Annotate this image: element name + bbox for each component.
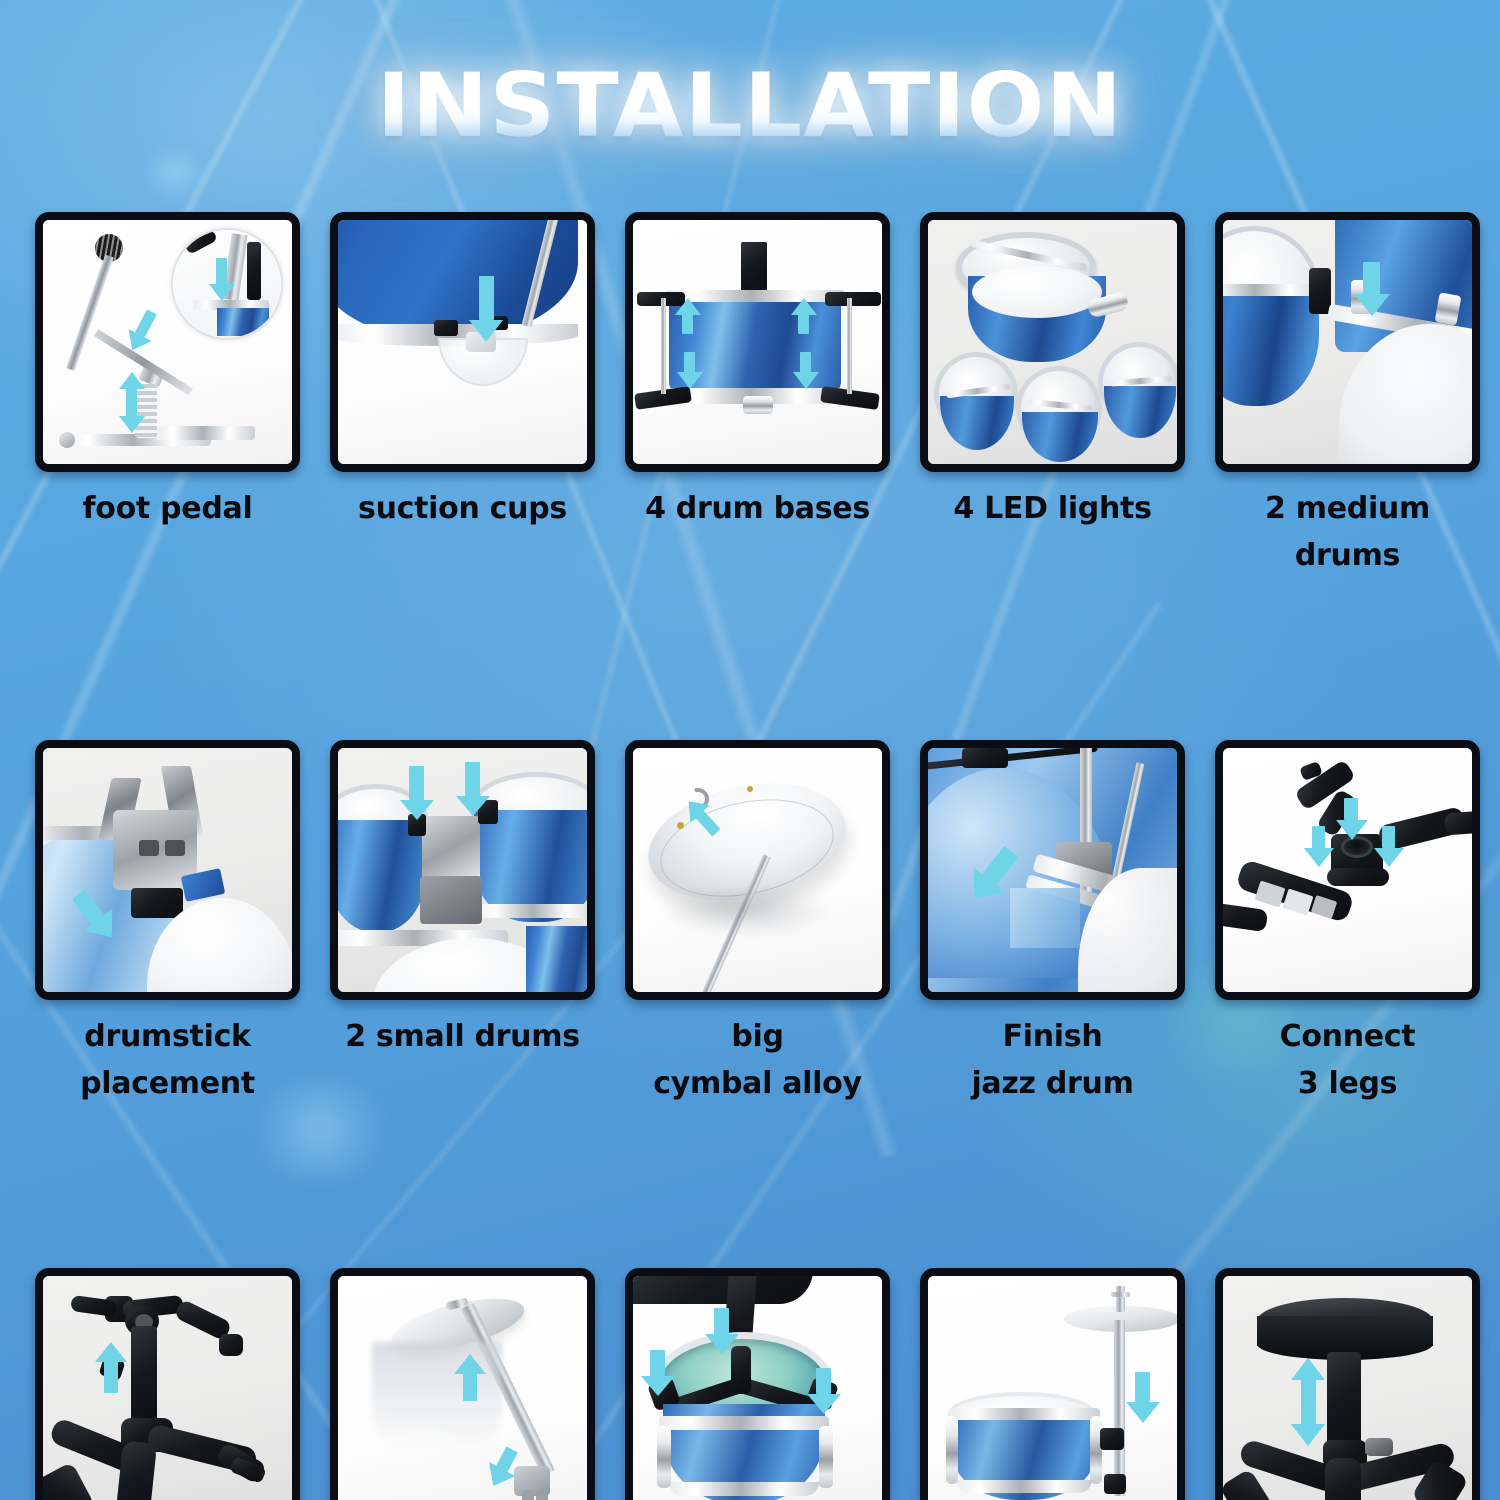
step-photo-2-small-drums: [330, 740, 595, 1000]
step-card-attach-top-base[interactable]: Attach top base: [35, 1268, 300, 1500]
step-photo-finish-jazz-drum: [920, 740, 1185, 1000]
step-photo-big-cymbal-alloy: [625, 740, 890, 1000]
step-photo-2-medium-drums: [1215, 212, 1480, 472]
step-caption: Connect 3 legs: [1215, 1014, 1480, 1107]
step-card-install-chair[interactable]: Install chair: [1215, 1268, 1480, 1500]
step-photo-attach-top-base: [35, 1268, 300, 1500]
step-photo-install-chair: [1215, 1268, 1480, 1500]
step-card-small-cymbal-alloy[interactable]: small cymbal alloy: [920, 1268, 1185, 1500]
step-card-snapping-firmly[interactable]: Snapping firmly: [625, 1268, 890, 1500]
step-card-2-small-drums[interactable]: 2 small drums: [330, 740, 595, 1107]
step-photo-4-led-lights: [920, 212, 1185, 472]
step-caption: 4 drum bases: [625, 486, 890, 533]
page-title: INSTALLATION: [377, 62, 1123, 150]
step-caption: suction cups: [330, 486, 595, 533]
step-caption: 4 LED lights: [920, 486, 1185, 533]
installation-steps-grid: foot pedal: [35, 212, 1465, 1500]
step-card-2-medium-drums[interactable]: 2 medium drums: [1215, 212, 1480, 579]
step-caption: drumstick placement: [35, 1014, 300, 1107]
step-card-drumstick-placement[interactable]: drumstick placement: [35, 740, 300, 1107]
step-photo-connect-them: [330, 1268, 595, 1500]
step-card-finish-jazz-drum[interactable]: Finish jazz drum: [920, 740, 1185, 1107]
step-photo-foot-pedal: [35, 212, 300, 472]
step-photo-connect-3-legs: [1215, 740, 1480, 1000]
step-photo-snapping-firmly: [625, 1268, 890, 1500]
row-gap: [35, 579, 1480, 740]
step-card-4-led-lights[interactable]: 4 LED lights: [920, 212, 1185, 579]
step-card-big-cymbal-alloy[interactable]: big cymbal alloy: [625, 740, 890, 1107]
step-card-4-drum-bases[interactable]: 4 drum bases: [625, 212, 890, 579]
step-card-suction-cups[interactable]: suction cups: [330, 212, 595, 579]
step-caption: big cymbal alloy: [625, 1014, 890, 1107]
row-gap: [35, 1107, 1480, 1268]
step-photo-suction-cups: [330, 212, 595, 472]
step-card-connect-them[interactable]: Connect them: [330, 1268, 595, 1500]
step-caption: foot pedal: [35, 486, 300, 533]
step-caption: 2 medium drums: [1215, 486, 1480, 579]
step-caption: 2 small drums: [330, 1014, 595, 1061]
step-card-connect-3-legs[interactable]: Connect 3 legs: [1215, 740, 1480, 1107]
page-title-wrapper: INSTALLATION: [0, 62, 1500, 150]
step-caption: Finish jazz drum: [920, 1014, 1185, 1107]
installation-poster: INSTALLATION: [0, 0, 1500, 1500]
step-photo-4-drum-bases: [625, 212, 890, 472]
step-card-foot-pedal[interactable]: foot pedal: [35, 212, 300, 579]
step-photo-small-cymbal-alloy: [920, 1268, 1185, 1500]
step-photo-drumstick-placement: [35, 740, 300, 1000]
